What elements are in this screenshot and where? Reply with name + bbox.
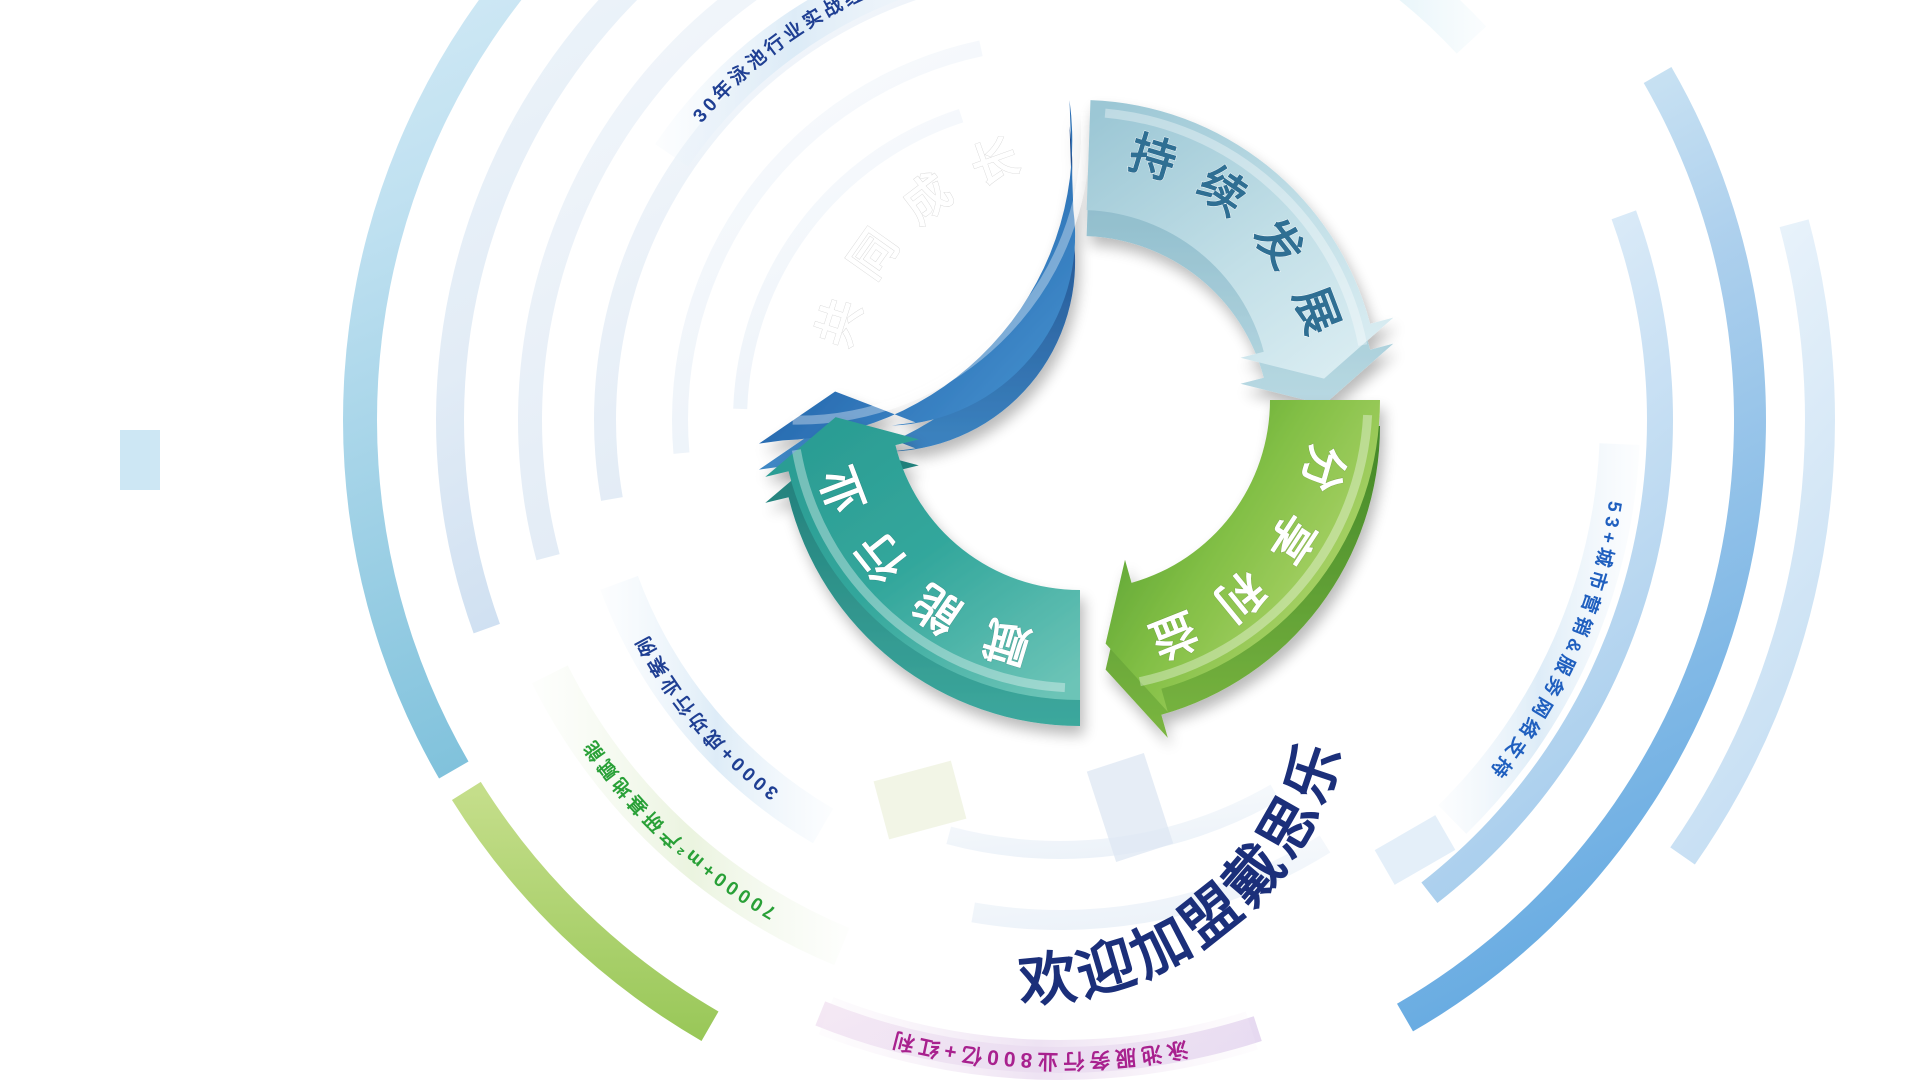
segment-label-char: 利	[1206, 561, 1275, 630]
stat-text-market-value: 泳池服务行业800亿+红利	[886, 1027, 1190, 1074]
stat-text-experience: 30年泳池行业实战经验	[689, 0, 890, 127]
segment-label-char: 能	[904, 575, 971, 644]
segment-label-char: 同	[839, 220, 908, 288]
segment-label-char: 持	[1123, 126, 1182, 189]
segment-label-char: 赋	[978, 611, 1037, 674]
segment-label-char: 发	[1244, 209, 1313, 277]
segment-label-char: 成	[893, 164, 961, 233]
segment-label-char: 展	[1284, 280, 1349, 341]
segment-label-char: 续	[1189, 156, 1256, 225]
poster-canvas: 共同成长持续发展分享利益赋能行业 30年泳池行业实战经验300000+泳池待服务…	[0, 0, 1920, 1080]
segment-label-char: 共	[807, 293, 871, 353]
segment-label-char: 长	[964, 130, 1025, 194]
segment-label-char: 行	[847, 522, 916, 590]
segment-label-char: 享	[1257, 505, 1326, 572]
stat-text-cities: 53+城市营销&服务网络支持	[1483, 500, 1625, 786]
segment-label-char: 分	[1292, 439, 1355, 497]
text-layer: 共同成长持续发展分享利益赋能行业 30年泳池行业实战经验300000+泳池待服务…	[0, 0, 1920, 1080]
brand-headline: 欢迎加盟戴思乐	[1015, 730, 1356, 1015]
segment-label-char: 业	[811, 459, 876, 520]
stat-text-cases: 3000+成功行业案例	[630, 629, 783, 803]
segment-label-char: 益	[1143, 602, 1205, 667]
